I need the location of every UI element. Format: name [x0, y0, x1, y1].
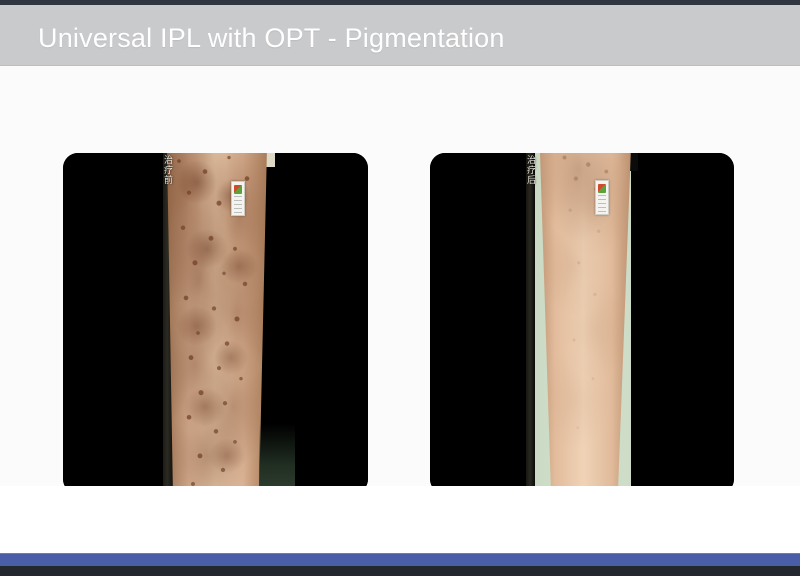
footer-accent-bar — [0, 553, 800, 567]
sticker-text-lines — [598, 195, 606, 212]
sticker-color-mark — [234, 185, 242, 194]
pigmentation-spots — [536, 153, 631, 494]
photo-backdrop-left — [63, 153, 163, 494]
pigmentation-spots — [167, 153, 267, 494]
slide-root: Universal IPL with OPT - Pigmentation 治疗… — [0, 0, 800, 576]
skin-marker-sticker — [231, 181, 245, 216]
sticker-text-lines — [234, 196, 242, 213]
photo-backdrop-right — [631, 153, 734, 494]
bottom-strip — [0, 566, 800, 576]
clinical-photo-icon: 治疗前 — [63, 153, 368, 494]
page-title: Universal IPL with OPT - Pigmentation — [38, 23, 505, 54]
photo-vertical-frame-bar — [526, 153, 535, 494]
photo-vertical-caption-after: 治疗后 — [526, 155, 535, 185]
photo-panel-after-treatment[interactable]: 治疗后 — [430, 153, 734, 494]
photo-bottom-shadow — [259, 424, 295, 494]
photo-vertical-caption-baseline: 治疗前 — [163, 155, 172, 185]
skin-marker-sticker — [595, 180, 609, 215]
clinical-photo-icon: 治疗后 — [430, 153, 734, 494]
photo-panel-baseline[interactable]: 治疗前 — [63, 153, 368, 494]
slide-body: 治疗前 治疗后 Baseline After 1 treatmen — [0, 66, 800, 486]
photo-backdrop-left — [430, 153, 526, 494]
slide-header: Universal IPL with OPT - Pigmentation — [0, 5, 800, 66]
sticker-color-mark — [598, 184, 606, 193]
